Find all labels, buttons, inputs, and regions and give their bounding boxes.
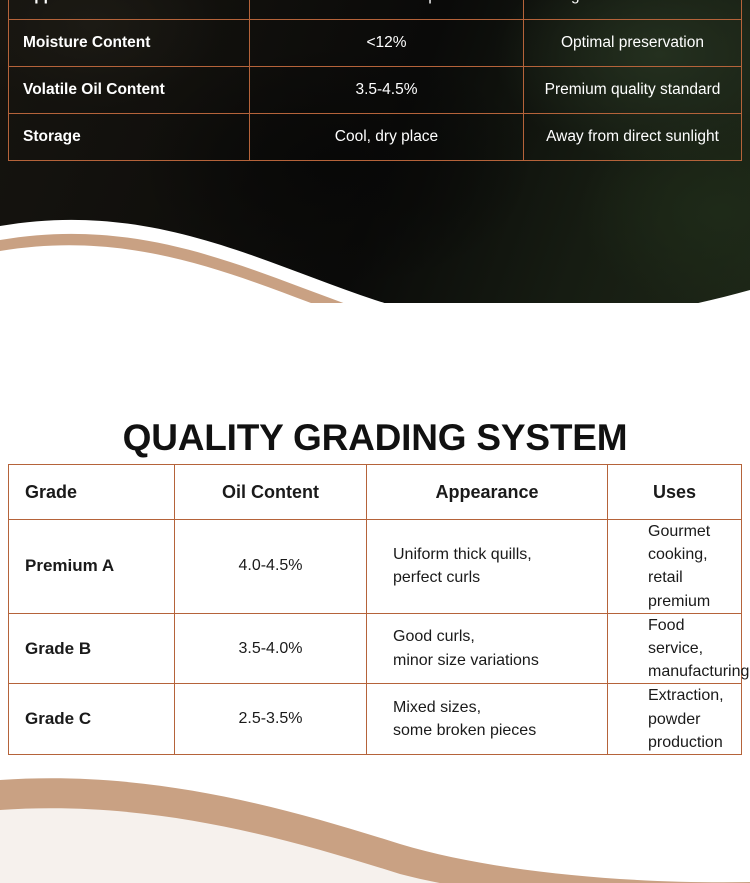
cell-uses: Food service, manufacturing <box>608 613 742 684</box>
specifications-section: Appearance Reddish-brown quills Tight do… <box>0 0 750 303</box>
cell-appearance-line2: minor size variations <box>393 649 595 672</box>
table-row: Grade B 3.5-4.0% Good curls, minor size … <box>9 613 742 684</box>
cell-uses-line2: manufacturing <box>648 660 729 683</box>
cell-appearance-line1: Mixed sizes, <box>393 696 595 719</box>
spec-label: Moisture Content <box>9 20 250 67</box>
cell-appearance-line1: Uniform thick quills, <box>393 543 595 566</box>
cell-appearance-line1: Good curls, <box>393 625 595 648</box>
cell-appearance-line2: some broken pieces <box>393 719 595 742</box>
spec-note: Away from direct sunlight <box>524 114 742 161</box>
spec-note: Premium quality standard <box>524 67 742 114</box>
cell-uses-line1: Gourmet cooking, <box>648 520 729 566</box>
table-row: Volatile Oil Content 3.5-4.5% Premium qu… <box>9 67 742 114</box>
spec-value: 3.5-4.5% <box>250 67 524 114</box>
table-header-row: Grade Oil Content Appearance Uses <box>9 465 742 520</box>
spec-note: Optimal preservation <box>524 20 742 67</box>
cell-appearance: Good curls, minor size variations <box>367 613 608 684</box>
cell-uses-line1: Food service, <box>648 614 729 660</box>
table-row: Storage Cool, dry place Away from direct… <box>9 114 742 161</box>
spec-label: Volatile Oil Content <box>9 67 250 114</box>
cell-appearance: Mixed sizes, some broken pieces <box>367 684 608 755</box>
table-row: Appearance Reddish-brown quills Tight do… <box>9 0 742 20</box>
cell-grade: Premium A <box>9 520 175 614</box>
cell-grade: Grade B <box>9 613 175 684</box>
table-row: Premium A 4.0-4.5% Uniform thick quills,… <box>9 520 742 614</box>
cell-grade: Grade C <box>9 684 175 755</box>
table-row: Moisture Content <12% Optimal preservati… <box>9 20 742 67</box>
column-header-appearance: Appearance <box>367 465 608 520</box>
page-title: QUALITY GRADING SYSTEM <box>0 417 750 459</box>
spec-value: Cool, dry place <box>250 114 524 161</box>
cell-appearance: Uniform thick quills, perfect curls <box>367 520 608 614</box>
table-row: Grade C 2.5-3.5% Mixed sizes, some broke… <box>9 684 742 755</box>
wave-divider-bottom <box>0 740 750 883</box>
cell-uses-line2: powder production <box>648 708 729 754</box>
spec-value: <12% <box>250 20 524 67</box>
cell-oil-content: 3.5-4.0% <box>175 613 367 684</box>
cell-uses: Extraction, powder production <box>608 684 742 755</box>
cell-uses-line2: retail premium <box>648 566 729 612</box>
quality-grading-table: Grade Oil Content Appearance Uses Premiu… <box>8 464 742 755</box>
spec-label: Appearance <box>9 0 250 20</box>
spec-label: Storage <box>9 114 250 161</box>
column-header-oil-content: Oil Content <box>175 465 367 520</box>
cell-appearance-line2: perfect curls <box>393 566 595 589</box>
specifications-table: Appearance Reddish-brown quills Tight do… <box>8 0 742 161</box>
cell-uses-line1: Extraction, <box>648 684 729 707</box>
column-header-uses: Uses <box>608 465 742 520</box>
cell-uses: Gourmet cooking, retail premium <box>608 520 742 614</box>
spec-value: Reddish-brown quills <box>250 0 524 20</box>
cell-oil-content: 4.0-4.5% <box>175 520 367 614</box>
column-header-grade: Grade <box>9 465 175 520</box>
spec-note: Tight double-fold rolls <box>524 0 742 20</box>
cell-oil-content: 2.5-3.5% <box>175 684 367 755</box>
